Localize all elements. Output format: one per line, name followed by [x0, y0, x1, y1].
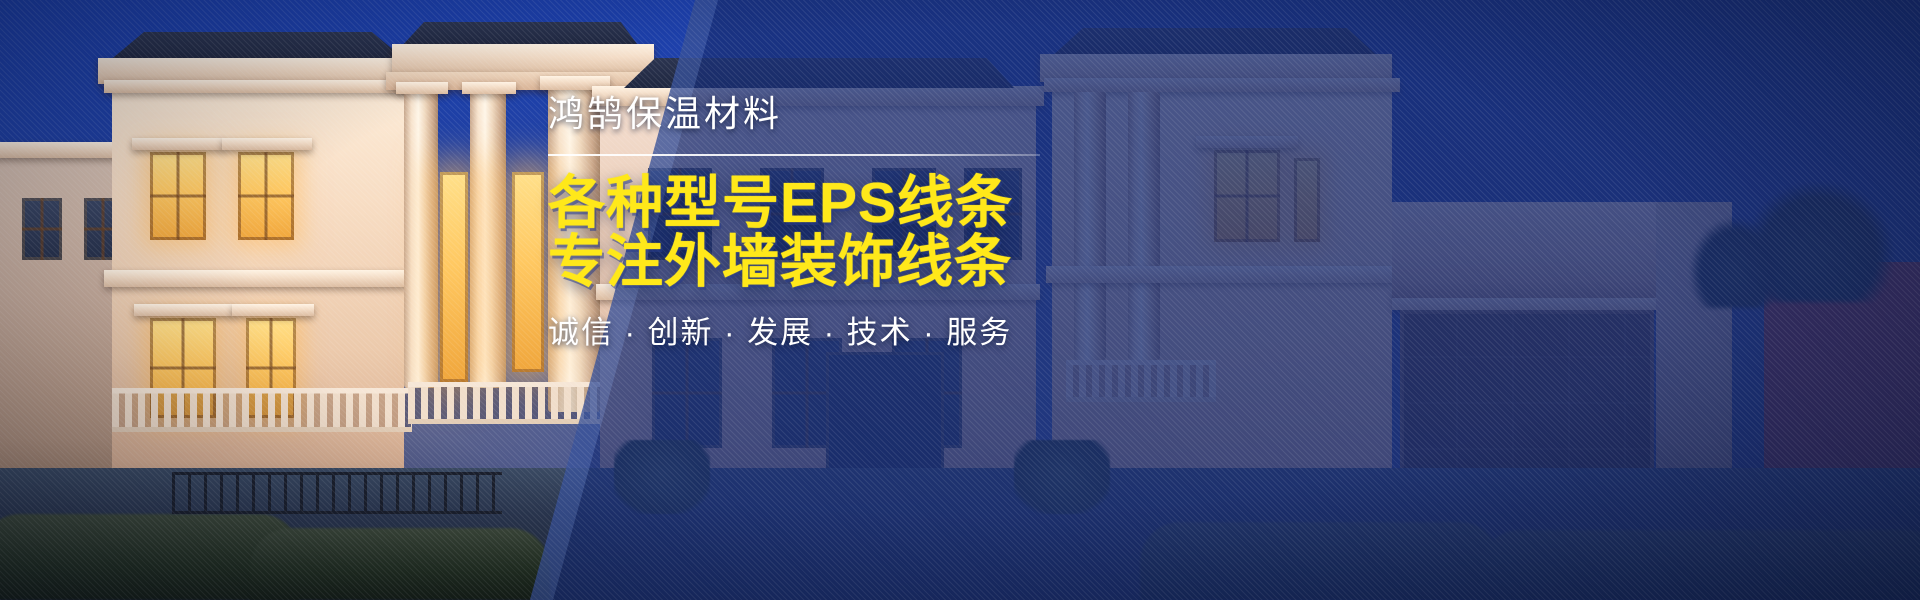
planter-shrub: [1014, 440, 1110, 514]
window-mullion: [1214, 150, 1280, 242]
window-mullion: [150, 152, 206, 240]
right-wing-mid-band: [1046, 266, 1398, 283]
background-tree: [1690, 218, 1780, 308]
window-lintel: [1196, 136, 1298, 148]
garage-upper-wall: [1392, 202, 1662, 298]
portico-column: [404, 88, 438, 388]
center-roof: [624, 58, 1014, 88]
portico-balustrade: [408, 382, 608, 424]
window-lintel: [134, 304, 234, 316]
window-lintel: [222, 138, 312, 150]
left-annex-window: [22, 198, 62, 260]
right-wing-window-side: [1294, 158, 1320, 242]
brand-eyebrow: 鸿鹄保温材料: [548, 96, 1068, 132]
portico-glow-opening: [512, 172, 544, 372]
hedge-right: [1140, 522, 1500, 600]
portico-column: [470, 88, 506, 388]
right-wing-band: [1044, 78, 1400, 92]
headline-line-2: 专注外墙装饰线条: [548, 233, 1068, 292]
left-wing-mid-band: [104, 270, 416, 287]
promo-banner: 鸿鹄保温材料 各种型号EPS线条 专注外墙装饰线条 诚信 · 创新 · 发展 ·…: [0, 0, 1920, 600]
column-capital: [462, 82, 516, 94]
center-lower-window: [652, 338, 722, 448]
left-wing-band: [104, 80, 412, 93]
window-mullion: [22, 198, 62, 260]
headline-line-1: 各种型号EPS线条: [548, 174, 1068, 233]
column-capital: [396, 82, 448, 94]
portico-glow-opening: [440, 172, 468, 382]
hedge-far-right: [1480, 530, 1920, 600]
window-mullion: [652, 338, 722, 448]
headline-block: 各种型号EPS线条 专注外墙装饰线条: [548, 174, 1068, 291]
window-lintel: [132, 138, 224, 150]
portico-entablature: [392, 44, 654, 74]
divider-rule: [548, 154, 1040, 156]
left-wing-window-upper: [150, 152, 206, 240]
right-wing-window-upper: [1214, 150, 1280, 242]
hedge-left-2: [250, 528, 550, 600]
right-column: [1128, 92, 1160, 360]
right-balcony-balustrade: [1066, 360, 1216, 402]
window-lintel: [232, 304, 314, 316]
banner-copy-block: 鸿鹄保温材料 各种型号EPS线条 专注外墙装饰线条 诚信 · 创新 · 发展 ·…: [548, 96, 1068, 348]
balcony-balustrade: [112, 388, 412, 432]
window-mullion: [238, 152, 294, 240]
planter-shrub: [614, 440, 710, 514]
left-wing-window-upper: [238, 152, 294, 240]
tagline: 诚信 · 创新 · 发展 · 技术 · 服务: [548, 317, 1068, 348]
right-column: [1074, 92, 1106, 360]
foreground-railing: [172, 472, 502, 514]
